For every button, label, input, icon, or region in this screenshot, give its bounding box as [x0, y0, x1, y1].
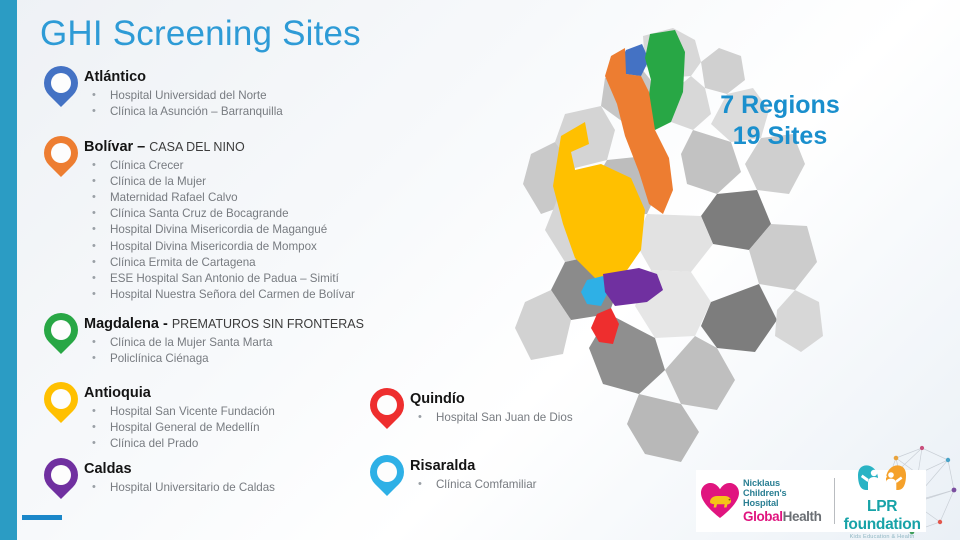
stats-block: 7 Regions 19 Sites [700, 90, 860, 152]
region-block-risaralda[interactable]: Risaralda Clínica Comfamiliar [368, 455, 537, 507]
left-accent-bar [0, 0, 17, 540]
nicklaus-childrens-logo: Nicklaus Children's Hospital GlobalHealt… [700, 478, 827, 525]
map-pin-icon-risaralda [368, 455, 406, 507]
lpr-tagline: Kids Education & Health [842, 534, 922, 540]
list-item: Clínica Ermita de Cartagena [84, 255, 355, 271]
list-item: Clínica Crecer [84, 158, 355, 174]
list-item: Hospital San Juan de Dios [410, 410, 573, 426]
list-item: Clínica del Prado [84, 436, 275, 452]
region-block-antioquia[interactable]: Antioquia Hospital San Vicente Fundación… [42, 382, 275, 452]
map-pin-icon-bolivar [42, 136, 80, 188]
region-heading: Antioquia [84, 385, 275, 402]
global-text: Global [743, 509, 783, 524]
region-block-quindio[interactable]: Quindío Hospital San Juan de Dios [368, 388, 573, 440]
list-item: Hospital Universitario de Caldas [84, 480, 275, 496]
lpr-foundation-logo: LPR foundation Kids Education & Health [842, 463, 922, 540]
region-name: Antioquia [84, 385, 151, 401]
list-item: Clínica de la Mujer [84, 174, 355, 190]
list-item: Clínica Santa Cruz de Bocagrande [84, 206, 355, 222]
region-block-caldas[interactable]: Caldas Hospital Universitario de Caldas [42, 458, 275, 510]
map-pin-icon-atlantico [42, 66, 80, 118]
logo-divider [834, 478, 835, 524]
region-heading: Atlántico [84, 69, 283, 86]
site-list-caldas: Hospital Universitario de Caldas [84, 480, 275, 496]
list-item: ESE Hospital San Antonio de Padua – Simi… [84, 271, 355, 287]
list-item: Hospital Universidad del Norte [84, 88, 283, 104]
list-item: Hospital Nuestra Señora del Carmen de Bo… [84, 287, 355, 303]
site-list-quindio: Hospital San Juan de Dios [410, 410, 573, 426]
region-heading: Caldas [84, 461, 275, 478]
map-pin-icon-caldas [42, 458, 80, 510]
region-heading: Bolívar – CASA DEL NINO [84, 139, 355, 156]
site-list-atlantico: Hospital Universidad del Norte Clínica l… [84, 88, 283, 120]
lpr-title: LPR foundation [842, 498, 922, 534]
health-text: Health [783, 509, 822, 524]
list-item: Hospital San Vicente Fundación [84, 404, 275, 420]
lpr-figures-icon [842, 463, 922, 498]
region-subtitle: CASA DEL NINO [149, 140, 244, 154]
list-item: Clínica la Asunción – Barranquilla [84, 104, 283, 120]
region-subtitle: PREMATUROS SIN FRONTERAS [172, 317, 364, 331]
page-title: GHI Screening Sites [40, 14, 361, 54]
region-heading: Quindío [410, 391, 573, 408]
stat-sites: 19 Sites [700, 121, 860, 152]
list-item: Hospital Divina Misericordia de Mompox [84, 239, 355, 255]
region-heading: Magdalena - PREMATUROS SIN FRONTERAS [84, 316, 364, 333]
list-item: Hospital Divina Misericordia de Magangué [84, 222, 355, 238]
site-list-risaralda: Clínica Comfamiliar [410, 477, 537, 493]
heart-bear-icon [700, 482, 740, 520]
region-name: Bolívar – [84, 139, 145, 155]
nicklaus-line-2: Children's [743, 488, 821, 498]
site-list-bolivar: Clínica Crecer Clínica de la Mujer Mater… [84, 158, 355, 304]
region-block-atlantico[interactable]: Atlántico Hospital Universidad del Norte… [42, 66, 283, 120]
region-name: Caldas [84, 461, 132, 477]
list-item: Clínica Comfamiliar [410, 477, 537, 493]
map-pin-icon-magdalena [42, 313, 80, 365]
stat-regions: 7 Regions [700, 90, 860, 121]
list-item: Clínica de la Mujer Santa Marta [84, 335, 364, 351]
list-item: Maternidad Rafael Calvo [84, 190, 355, 206]
nicklaus-line-1: Nicklaus [743, 478, 821, 488]
list-item: Hospital General de Medellín [84, 420, 275, 436]
site-list-magdalena: Clínica de la Mujer Santa Marta Policlín… [84, 335, 364, 367]
map-pin-icon-antioquia [42, 382, 80, 434]
region-name: Risaralda [410, 458, 475, 474]
logo-bar: Nicklaus Children's Hospital GlobalHealt… [696, 470, 926, 532]
region-heading: Risaralda [410, 458, 537, 475]
map-pin-icon-quindio [368, 388, 406, 440]
list-item: Policlínica Ciénaga [84, 351, 364, 367]
bottom-accent-rule [22, 515, 62, 520]
region-block-bolivar[interactable]: Bolívar – CASA DEL NINO Clínica Crecer C… [42, 136, 355, 304]
site-list-antioquia: Hospital San Vicente Fundación Hospital … [84, 404, 275, 453]
region-name: Magdalena - [84, 316, 168, 332]
nicklaus-line-3: Hospital [743, 498, 821, 508]
region-name: Atlántico [84, 69, 146, 85]
region-block-magdalena[interactable]: Magdalena - PREMATUROS SIN FRONTERAS Clí… [42, 313, 364, 367]
region-name: Quindío [410, 391, 465, 407]
